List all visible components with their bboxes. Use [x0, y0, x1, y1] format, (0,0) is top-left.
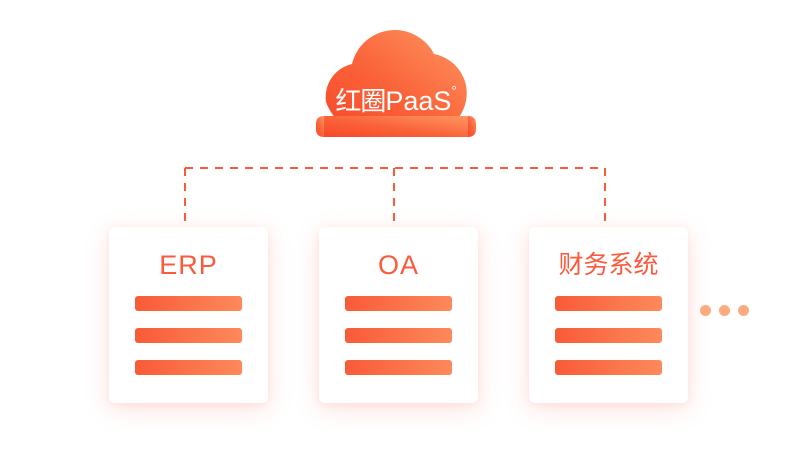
card-content-bars: [345, 296, 452, 375]
card-content-bars: [555, 296, 662, 375]
card-title-finance: 财务系统: [529, 249, 688, 281]
content-bar: [555, 360, 662, 375]
more-systems-ellipsis: [700, 305, 748, 317]
system-card-oa[interactable]: OA: [319, 227, 478, 403]
content-bar: [135, 360, 242, 375]
content-bar: [135, 328, 242, 343]
card-content-bars: [135, 296, 242, 375]
ellipsis-dot: [719, 305, 730, 316]
diagram-canvas: 红圈PaaS° ERP OA 财务系统: [0, 0, 792, 459]
card-title-erp: ERP: [109, 249, 268, 281]
content-bar: [345, 360, 452, 375]
content-bar: [345, 328, 452, 343]
content-bar: [555, 296, 662, 311]
ellipsis-dot: [738, 305, 749, 316]
cloud-shape-icon: [306, 24, 486, 144]
card-title-oa: OA: [319, 249, 478, 281]
content-bar: [135, 296, 242, 311]
content-bar: [555, 328, 662, 343]
content-bar: [345, 296, 452, 311]
system-card-finance[interactable]: 财务系统: [529, 227, 688, 403]
system-card-erp[interactable]: ERP: [109, 227, 268, 403]
ellipsis-dot: [700, 305, 711, 316]
platform-cloud[interactable]: 红圈PaaS°: [306, 24, 486, 144]
